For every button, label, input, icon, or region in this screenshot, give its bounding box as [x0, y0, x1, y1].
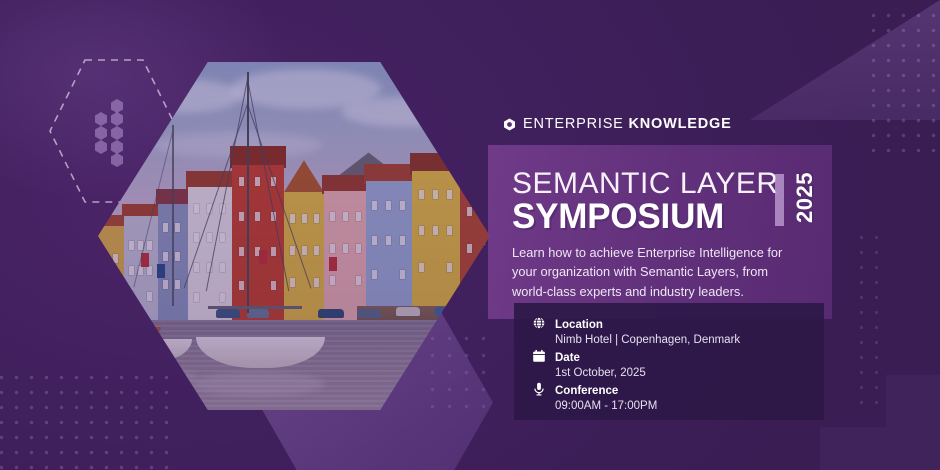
- hexagon-logo-icon: [503, 118, 516, 131]
- hexagon-dot-cluster-icon: [86, 98, 144, 168]
- event-info-box: Location Nimb Hotel | Copenhagen, Denmar…: [514, 303, 824, 420]
- info-label-date: Date: [555, 352, 580, 364]
- dot-grid-bottom-left: [0, 370, 169, 470]
- event-banner: ENTERPRISE KNOWLEDGE SEMANTIC LAYER SYMP…: [0, 0, 940, 470]
- title-block: SEMANTIC LAYER SYMPOSIUM 2025: [512, 168, 842, 235]
- event-description: Learn how to achieve Enterprise Intellig…: [512, 243, 802, 301]
- info-label-conference: Conference: [555, 385, 618, 397]
- info-value-location: Nimb Hotel | Copenhagen, Denmark: [555, 333, 740, 349]
- event-year: 2025: [792, 172, 818, 223]
- wedge-top-right-icon: [750, 0, 940, 120]
- dot-grid-photo-right: [424, 330, 494, 420]
- info-value-date: 1st October, 2025: [555, 366, 646, 382]
- dot-grid-top-right: [866, 8, 940, 158]
- info-row-date: Date 1st October, 2025: [532, 348, 646, 382]
- info-label-location: Location: [555, 319, 603, 331]
- block-bottom-right: [820, 375, 940, 470]
- globe-icon: [532, 316, 546, 330]
- event-photo-hexagon: [98, 62, 490, 410]
- brand-name-light: ENTERPRISE: [523, 116, 624, 132]
- calendar-icon: [532, 349, 546, 363]
- info-value-conference: 09:00AM - 17:00PM: [555, 399, 657, 415]
- info-row-conference: Conference 09:00AM - 17:00PM: [532, 381, 657, 415]
- dot-grid-mid-right: [854, 230, 884, 415]
- title-divider-rule: [775, 174, 784, 226]
- brand-name-bold: KNOWLEDGE: [629, 116, 732, 132]
- info-row-location: Location Nimb Hotel | Copenhagen, Denmar…: [532, 315, 740, 349]
- photo-purple-tint: [98, 62, 490, 410]
- brand-wordmark: ENTERPRISE KNOWLEDGE: [523, 116, 732, 132]
- brand-logo[interactable]: ENTERPRISE KNOWLEDGE: [503, 116, 732, 132]
- microphone-icon: [532, 382, 546, 396]
